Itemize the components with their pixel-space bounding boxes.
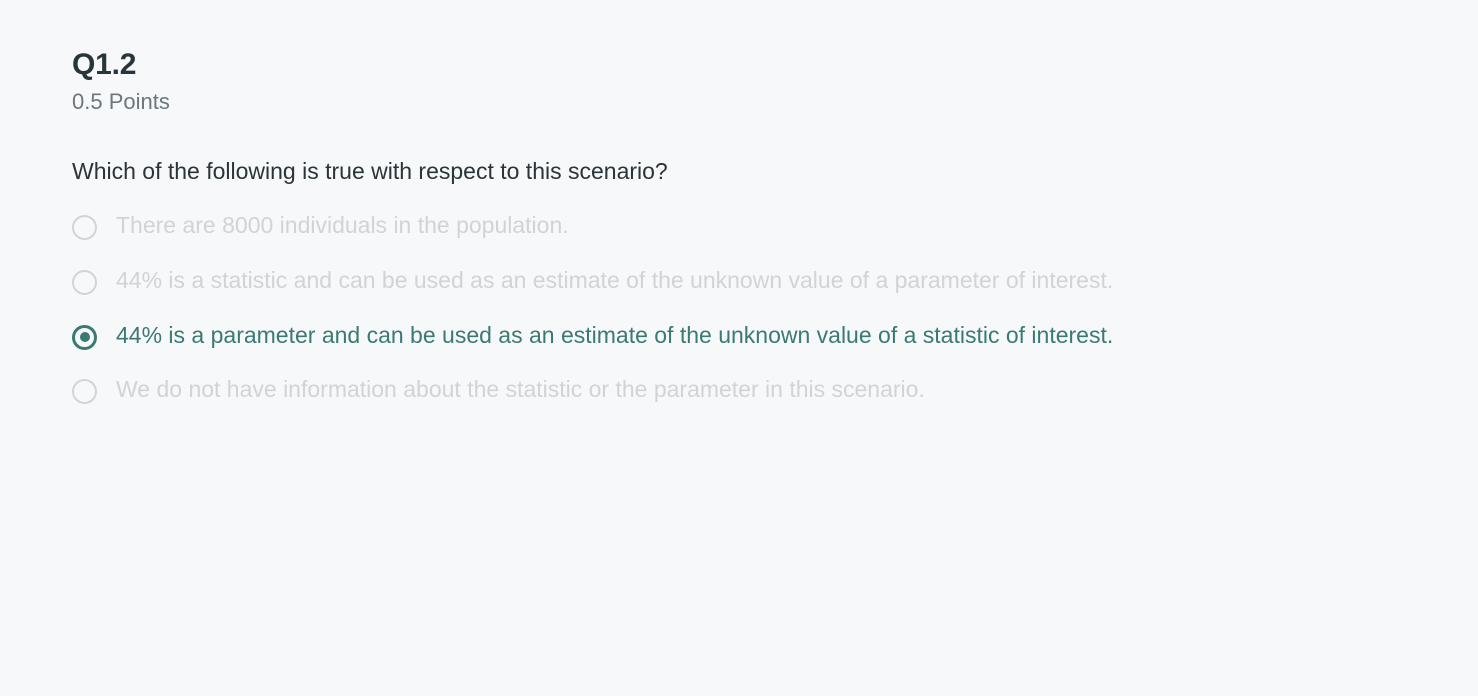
answer-options-group: There are 8000 individuals in the popula… [72,209,1400,406]
radio-selected-icon[interactable] [72,325,97,350]
radio-unselected-icon[interactable] [72,215,97,240]
answer-option-label: 44% is a statistic and can be used as an… [116,264,1113,297]
answer-option-label: 44% is a parameter and can be used as an… [116,319,1113,352]
answer-option-label: There are 8000 individuals in the popula… [116,209,569,242]
radio-unselected-icon[interactable] [72,270,97,295]
question-points: 0.5 Points [72,89,1400,115]
question-panel: Q1.2 0.5 Points Which of the following i… [0,0,1478,696]
answer-option-d[interactable]: We do not have information about the sta… [72,373,1362,406]
question-header: Q1.2 0.5 Points [72,48,1400,115]
radio-unselected-icon[interactable] [72,379,97,404]
answer-option-c[interactable]: 44% is a parameter and can be used as an… [72,319,1362,352]
answer-option-a[interactable]: There are 8000 individuals in the popula… [72,209,1362,242]
question-number: Q1.2 [72,48,1400,81]
answer-option-b[interactable]: 44% is a statistic and can be used as an… [72,264,1362,297]
question-prompt: Which of the following is true with resp… [72,157,1400,187]
answer-option-label: We do not have information about the sta… [116,373,925,406]
